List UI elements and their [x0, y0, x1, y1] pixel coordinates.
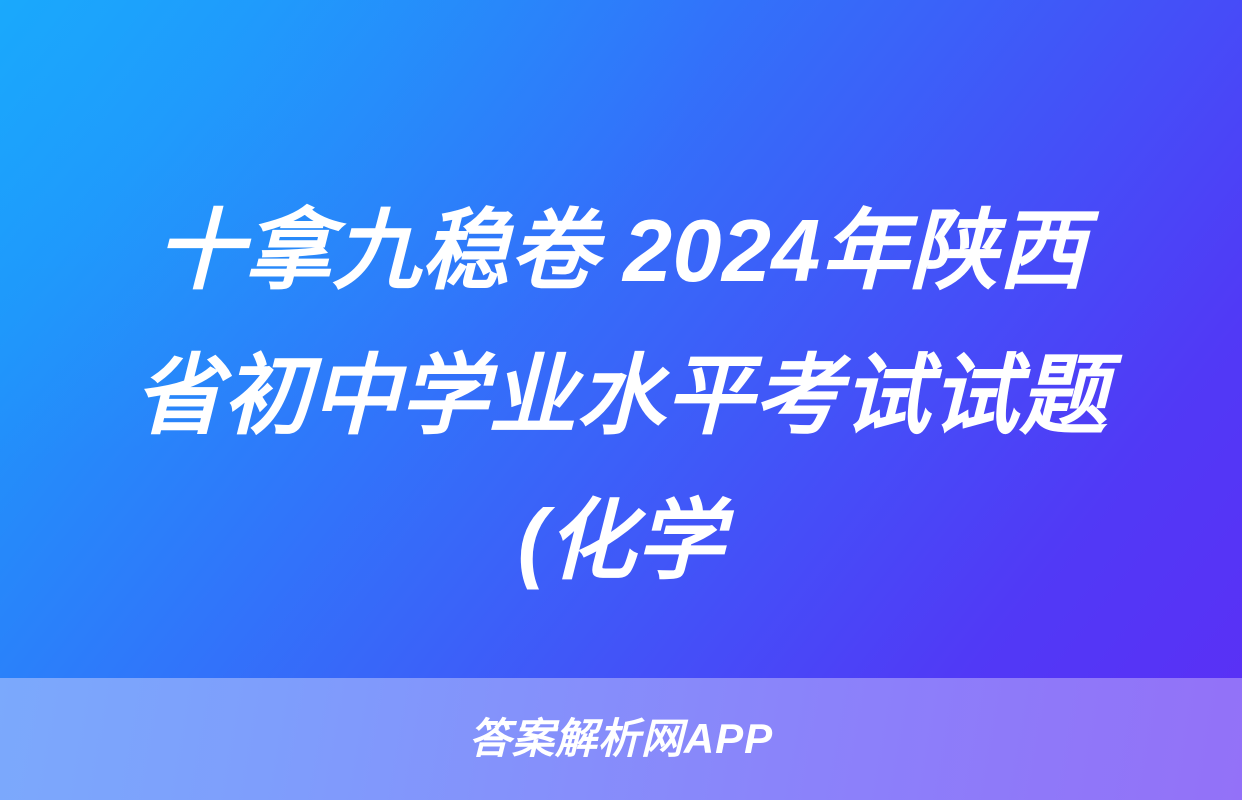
footer-brand-band: 答案解析网APP: [0, 678, 1242, 800]
title-line-3: (化学: [24, 468, 1218, 613]
title-line-1: 十拿九稳卷 2024年陕西: [24, 178, 1218, 323]
title-line-2: 省初中学业水平考试试题: [24, 323, 1218, 468]
exam-title-card: 十拿九稳卷 2024年陕西 省初中学业水平考试试题 (化学 答案解析网APP: [0, 0, 1242, 800]
brand-name-label: 答案解析网APP: [469, 718, 773, 760]
page-title: 十拿九稳卷 2024年陕西 省初中学业水平考试试题 (化学: [0, 178, 1242, 613]
